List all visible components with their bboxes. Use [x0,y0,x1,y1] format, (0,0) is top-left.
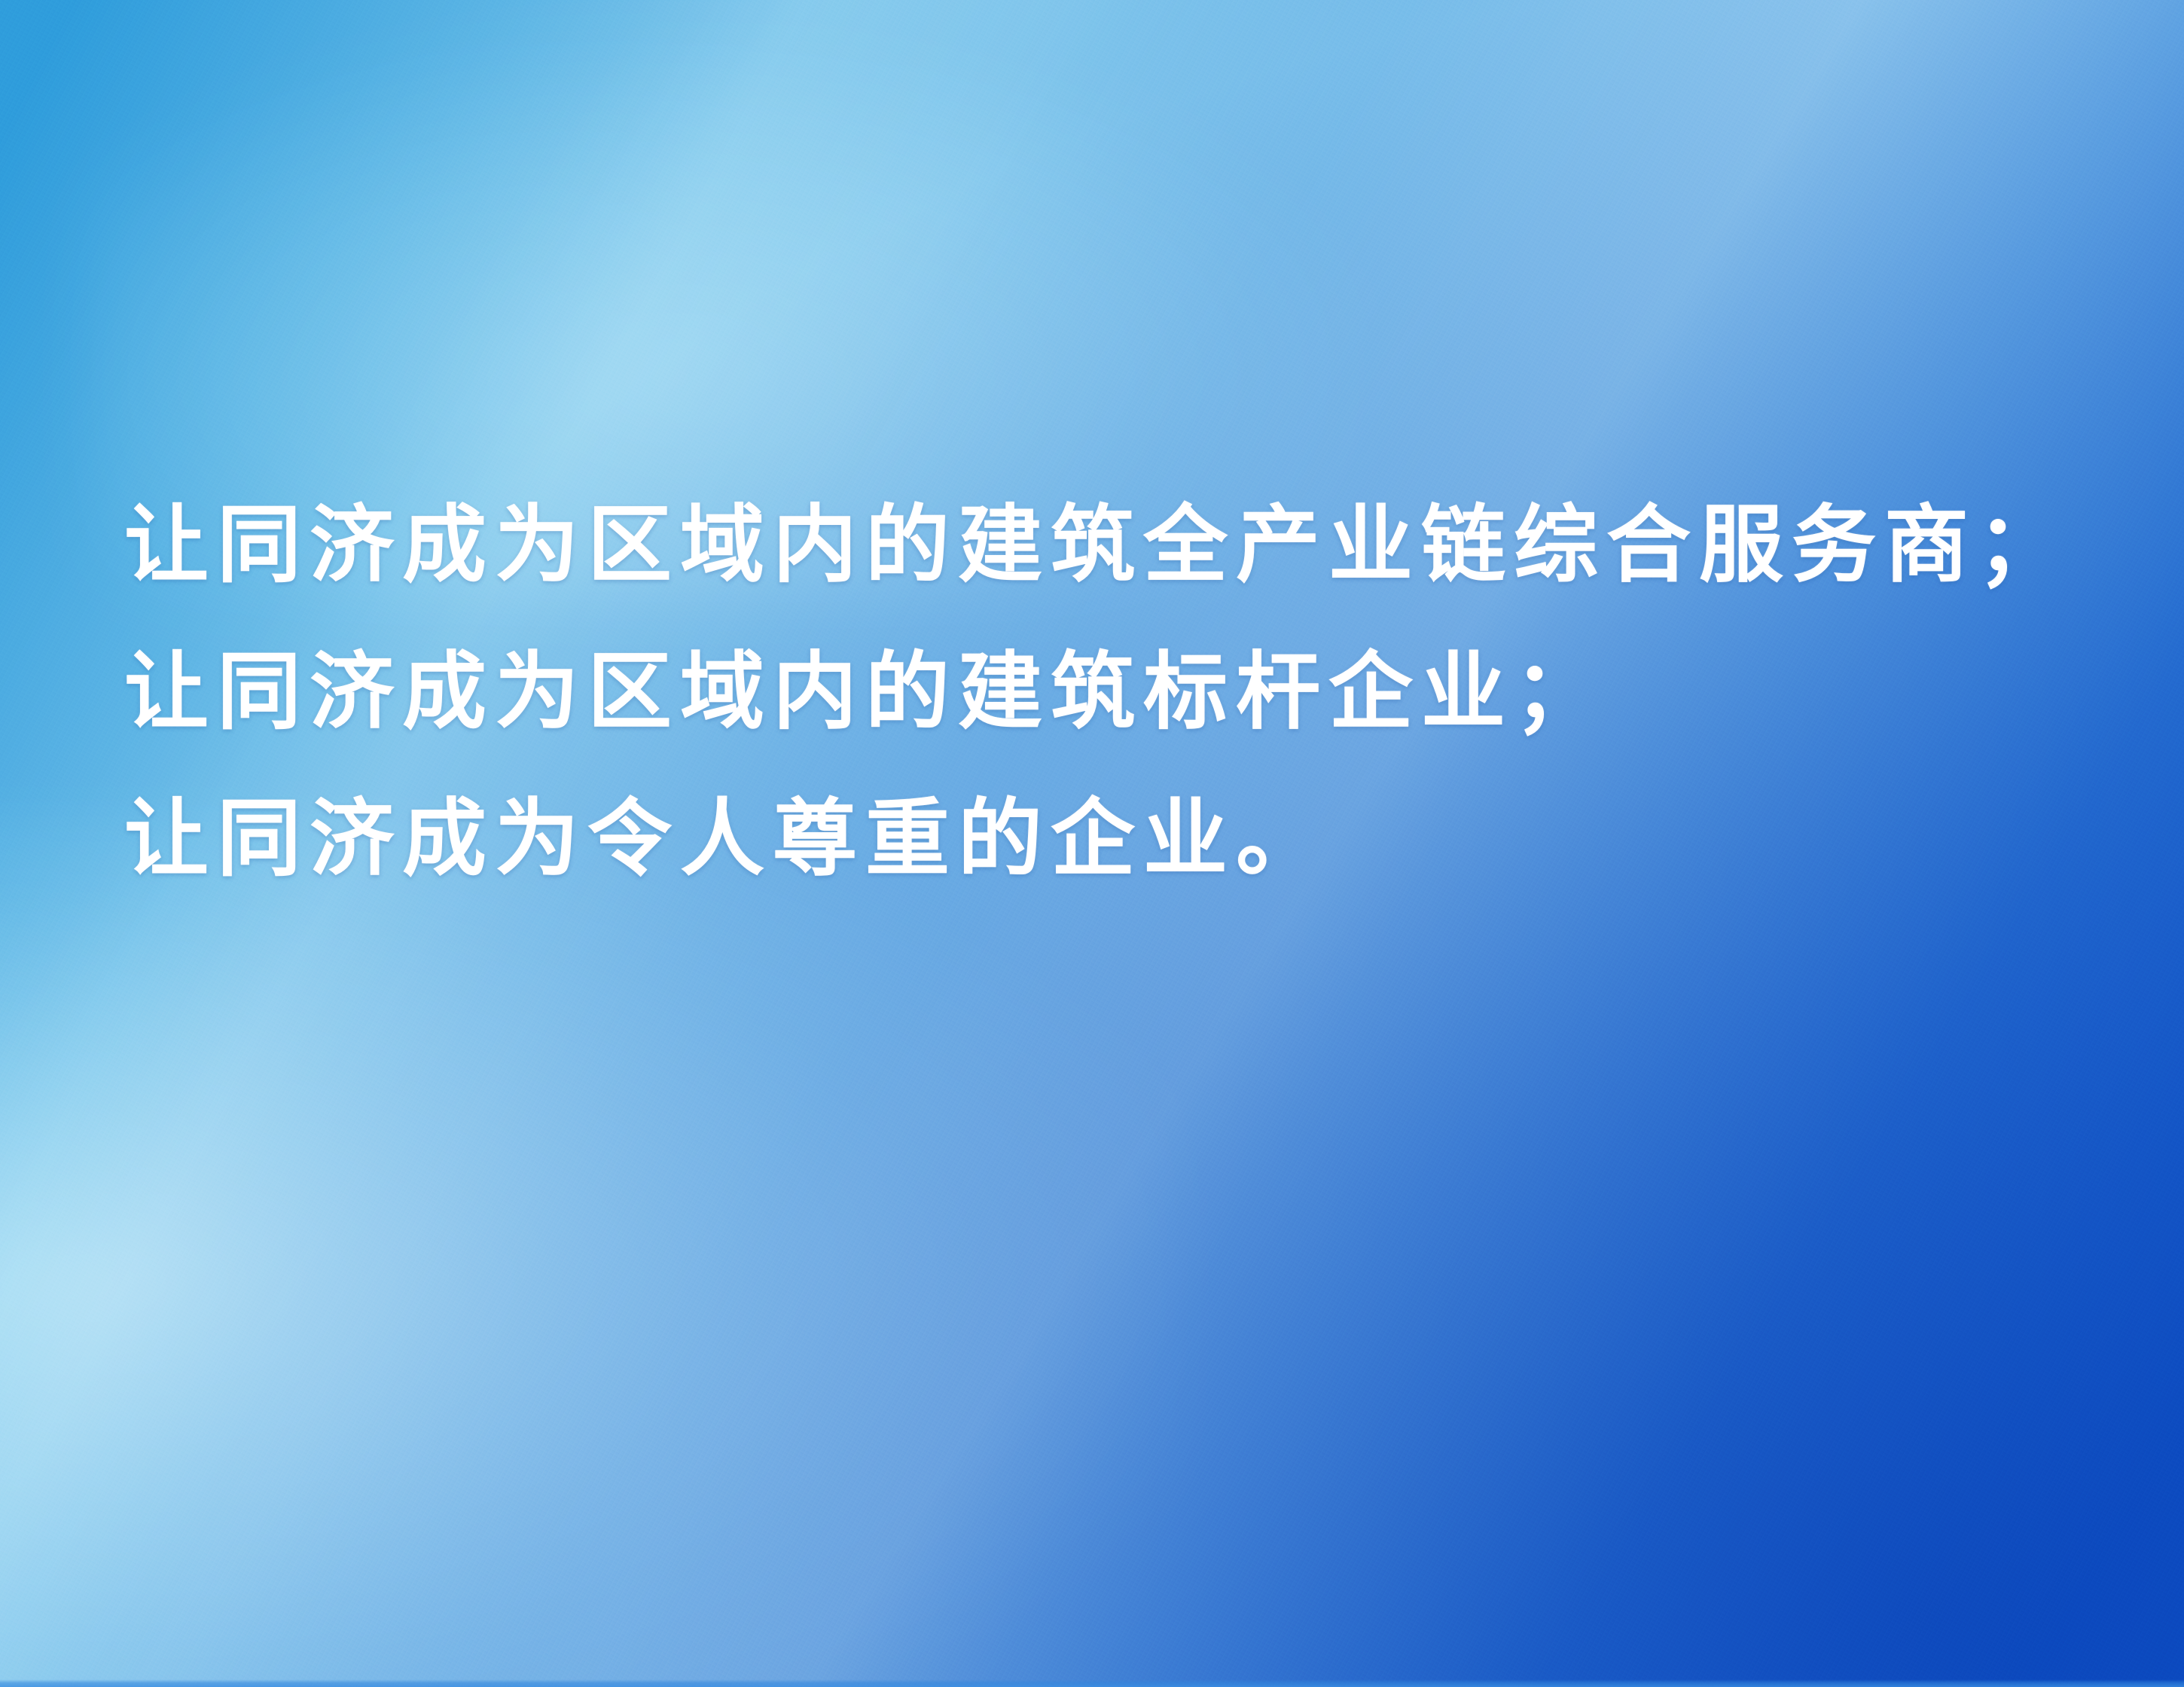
background-bottom-edge-strip [0,1679,2184,1687]
slide-text-line-3: 让同济成为令人尊重的企业。 [124,767,2094,914]
slide-text-line-1: 让同济成为区域内的建筑全产业链综合服务商； [124,473,2094,620]
slide-text-line-2: 让同济成为区域内的建筑标杆企业； [124,620,2094,767]
slide-text-block: 让同济成为区域内的建筑全产业链综合服务商； 让同济成为区域内的建筑标杆企业； 让… [124,473,2094,914]
slide-canvas: 让同济成为区域内的建筑全产业链综合服务商； 让同济成为区域内的建筑标杆企业； 让… [0,0,2184,1687]
